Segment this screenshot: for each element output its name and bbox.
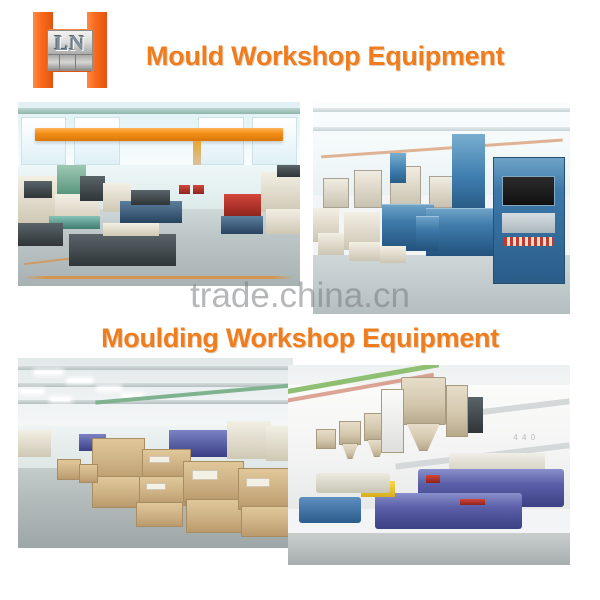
tl-work-table: [69, 234, 176, 265]
tr-cabinet-indicators: [504, 237, 554, 246]
photo-mould-workshop-floor: [18, 102, 300, 286]
bl-ceiling-light: [68, 379, 93, 382]
tl-machine: [18, 223, 63, 245]
bl-carton: [79, 464, 98, 483]
logo-letters: LN: [47, 30, 93, 57]
tr-machine-base: [380, 246, 406, 263]
br-floor: [288, 533, 570, 565]
tl-overhead-crane: [35, 128, 283, 141]
tl-window: [252, 117, 297, 165]
photo-edm-machine-line: [313, 102, 570, 314]
br-machine-marking: [460, 499, 485, 505]
tl-machine-head: [24, 181, 52, 198]
tl-ceiling-beam: [18, 108, 300, 114]
bl-ceiling-beam: [18, 366, 293, 370]
tl-machine: [80, 176, 105, 202]
bl-machine-panel: [227, 421, 271, 459]
tr-cabinet-panel: [502, 213, 555, 233]
br-support-column: [381, 389, 404, 453]
br-wall-number: 4 4 0: [513, 433, 536, 442]
tl-window: [74, 117, 119, 165]
bl-ceiling-light: [98, 387, 120, 390]
bl-carton-label: [192, 470, 218, 480]
bl-carton-label: [149, 456, 170, 463]
tl-parts-row: [103, 223, 159, 236]
tl-part-red: [179, 185, 190, 194]
tl-bench: [221, 216, 263, 234]
br-machine-platen: [316, 473, 389, 493]
br-machine-blue-unit: [299, 497, 361, 523]
tl-window: [198, 117, 243, 165]
tr-ceiling-beam: [313, 127, 570, 131]
br-hopper-dryer: [401, 377, 446, 425]
tr-machine-column-tall: [452, 134, 485, 208]
tl-part-red: [193, 185, 204, 194]
br-hopper-dryer: [316, 429, 336, 449]
bl-carton: [183, 461, 244, 503]
tr-machine-base: [318, 233, 344, 254]
tr-control-cabinet: [493, 157, 565, 284]
bl-carton: [136, 502, 183, 527]
tr-machine-column: [390, 153, 405, 183]
bl-ceiling-light: [35, 371, 63, 374]
bl-carton: [238, 468, 293, 510]
bl-carton-label: [246, 478, 269, 488]
br-hopper-dryer: [339, 421, 362, 445]
photo-injection-moulding-machines: 4 4 0: [288, 365, 570, 565]
tl-machine-head: [277, 165, 300, 178]
tl-machine-centre: [131, 190, 170, 205]
bl-carton: [186, 499, 244, 533]
tl-machine: [261, 172, 300, 212]
bl-ceiling-light: [21, 390, 43, 393]
bl-carton: [241, 506, 293, 536]
tl-machine: [266, 209, 300, 235]
tr-cabinet-screen: [502, 176, 555, 206]
bl-shelving: [18, 430, 51, 457]
photo-warehouse-cartons: [18, 358, 293, 548]
tr-machine-head: [323, 178, 349, 208]
tr-machine-base: [349, 242, 380, 261]
bl-ceiling-light: [51, 398, 70, 401]
page-title-moulding-workshop: Moulding Workshop Equipment: [0, 323, 600, 354]
tl-floor-marking: [18, 276, 300, 279]
tr-dielectric-tank: [416, 216, 439, 251]
tr-ceiling-beam: [313, 108, 570, 112]
company-logo-icon: LN: [33, 12, 107, 88]
br-hopper-dryer-unit: [446, 385, 469, 437]
br-machine-marking: [426, 475, 440, 483]
product-banner-page: LN Mould Workshop Equipment: [0, 0, 600, 600]
banner-header: LN Mould Workshop Equipment: [0, 0, 600, 96]
tr-machine-head: [354, 170, 382, 208]
tl-machine-red: [224, 194, 261, 216]
bl-carton-label: [146, 483, 166, 490]
tl-window: [21, 117, 66, 165]
br-injection-machine: [375, 493, 522, 529]
br-control-box: [468, 397, 482, 433]
page-title-mould-workshop: Mould Workshop Equipment: [146, 41, 486, 72]
